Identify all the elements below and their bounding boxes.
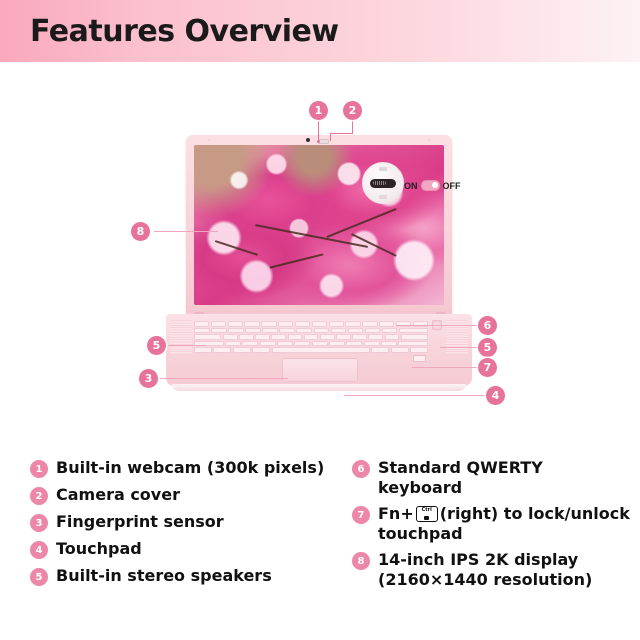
key-space — [272, 347, 370, 353]
leader-line-5-left — [166, 345, 206, 346]
legend-label-1: Built-in webcam (300k pixels) — [56, 458, 324, 478]
base-front-lip — [172, 384, 466, 391]
microphone-icon-left — [208, 139, 210, 141]
keycap-label: Ctrl — [417, 508, 437, 513]
key — [295, 321, 310, 327]
keyboard-row — [194, 321, 428, 327]
callout-marker-5-right[interactable]: 5 — [478, 338, 497, 357]
key — [211, 321, 226, 327]
legend-label-5: Built-in stereo speakers — [56, 566, 272, 586]
toggle-knob — [432, 182, 438, 188]
legend-label-7: Fn+Ctrl(right) to lock/unlock touchpad — [378, 504, 632, 543]
key — [345, 321, 360, 327]
key-fn — [213, 347, 231, 353]
webcam-icon — [306, 138, 310, 142]
ctrl-key-right — [413, 355, 426, 362]
key-ctrl-right — [391, 347, 409, 353]
speaker-grille-left — [170, 320, 192, 354]
callout-marker-8[interactable]: 8 — [131, 222, 150, 241]
legend-column-right: 6 Standard QWERTY keyboard 7 Fn+Ctrl(rig… — [352, 458, 632, 596]
microphone-icon-right — [428, 139, 430, 141]
key — [225, 341, 241, 347]
legend-badge-8: 8 — [352, 552, 370, 570]
callout-marker-6[interactable]: 6 — [478, 316, 497, 335]
key — [223, 334, 238, 340]
callout-marker-5-left[interactable]: 5 — [147, 336, 166, 355]
keycap-sub-glyph — [424, 516, 429, 520]
legend-label-6: Standard QWERTY keyboard — [378, 458, 632, 497]
key — [365, 328, 381, 334]
leader-line-4 — [344, 395, 486, 396]
legend-column-left: 1 Built-in webcam (300k pixels) 2 Camera… — [30, 458, 330, 593]
callout-marker-4[interactable]: 4 — [486, 386, 505, 405]
key — [385, 334, 400, 340]
key-alt — [252, 347, 270, 353]
key — [296, 328, 312, 334]
page-header: Features Overview — [0, 0, 640, 62]
list-item: 6 Standard QWERTY keyboard — [352, 458, 632, 497]
legend-badge-7: 7 — [352, 506, 370, 524]
key-win — [233, 347, 251, 353]
key-enter — [401, 334, 428, 340]
branch-decor — [215, 240, 258, 255]
key — [294, 341, 310, 347]
key — [277, 341, 293, 347]
magnifier-notch-top — [379, 167, 387, 171]
key — [329, 321, 344, 327]
key-ctrl-left — [194, 347, 212, 353]
keyboard-row — [194, 347, 428, 353]
laptop-screen — [194, 145, 444, 305]
key — [331, 328, 347, 334]
key — [239, 334, 254, 340]
list-item: 3 Fingerprint sensor — [30, 512, 330, 532]
callout-marker-1[interactable]: 1 — [309, 101, 328, 120]
legend-badge-6: 6 — [352, 460, 370, 478]
legend-label-8: 14-inch IPS 2K display (2160×1440 resolu… — [378, 550, 632, 589]
key — [320, 334, 335, 340]
key — [362, 321, 377, 327]
key — [379, 321, 394, 327]
branch-decor — [270, 254, 324, 269]
legend-label-7-prefix: Fn+ — [378, 504, 414, 523]
wallpaper-cherry-blossom — [194, 145, 444, 305]
legend-badge-5: 5 — [30, 568, 48, 586]
key — [346, 341, 362, 347]
leader-line-2-v2 — [330, 133, 331, 141]
camera-cover-slider — [318, 139, 329, 144]
key — [336, 334, 351, 340]
list-item: 5 Built-in stereo speakers — [30, 566, 330, 586]
page-title: Features Overview — [30, 14, 339, 49]
leader-line-2-h — [330, 133, 353, 134]
camera-cover-slider-detail — [370, 179, 396, 188]
key — [228, 328, 244, 334]
legend-label-2: Camera cover — [56, 485, 180, 505]
key — [312, 341, 328, 347]
key — [364, 341, 380, 347]
key — [211, 328, 227, 334]
ctrl-keycap-icon: Ctrl — [416, 506, 438, 522]
key — [228, 321, 243, 327]
key — [279, 328, 295, 334]
callout-marker-3[interactable]: 3 — [139, 369, 158, 388]
legend-badge-1: 1 — [30, 460, 48, 478]
list-item: 7 Fn+Ctrl(right) to lock/unlock touchpad — [352, 504, 632, 543]
key — [381, 341, 397, 347]
key — [194, 328, 210, 334]
keyboard-row — [194, 334, 428, 340]
key — [368, 334, 383, 340]
leader-line-2-v — [352, 120, 353, 134]
key — [244, 321, 259, 327]
key-backspace — [399, 328, 428, 334]
toggle-switch-icon — [421, 180, 440, 191]
key — [312, 321, 327, 327]
key-arrow — [410, 347, 428, 353]
list-item: 8 14-inch IPS 2K display (2160×1440 reso… — [352, 550, 632, 589]
leader-line-6 — [396, 325, 486, 326]
leader-line-1 — [318, 120, 319, 142]
key — [278, 321, 293, 327]
key — [261, 321, 276, 327]
callout-marker-2[interactable]: 2 — [343, 101, 362, 120]
leader-line-8 — [154, 231, 218, 232]
toggle-on-label: ON — [404, 181, 418, 191]
camera-cover-magnifier — [362, 162, 404, 204]
leader-dot-1 — [317, 140, 320, 143]
list-item: 2 Camera cover — [30, 485, 330, 505]
key — [242, 341, 258, 347]
callout-marker-7[interactable]: 7 — [478, 358, 497, 377]
key — [314, 328, 330, 334]
legend-label-4: Touchpad — [56, 539, 142, 559]
camera-cover-toggle: ON OFF — [404, 180, 461, 191]
toggle-off-label: OFF — [443, 181, 461, 191]
key — [271, 334, 286, 340]
legend-label-3: Fingerprint sensor — [56, 512, 224, 532]
list-item: 1 Built-in webcam (300k pixels) — [30, 458, 330, 478]
keyboard-row — [194, 341, 428, 347]
key — [304, 334, 319, 340]
key — [329, 341, 345, 347]
key — [382, 328, 398, 334]
branch-decor — [326, 208, 396, 238]
laptop-lid — [186, 135, 452, 317]
legend-badge-3: 3 — [30, 514, 48, 532]
key-alt-right — [371, 347, 389, 353]
keyboard — [192, 319, 430, 355]
leader-line-3 — [158, 378, 288, 379]
key — [194, 321, 209, 327]
legend-badge-2: 2 — [30, 487, 48, 505]
key — [245, 328, 261, 334]
key — [260, 341, 276, 347]
magnifier-notch-bottom — [379, 195, 387, 199]
key — [288, 334, 303, 340]
keyboard-row — [194, 328, 428, 334]
key-shift — [398, 341, 428, 347]
product-diagram: ON OFF 1 2 8 5 3 6 5 7 4 — [0, 62, 640, 452]
key-tab — [194, 334, 221, 340]
legend-badge-4: 4 — [30, 541, 48, 559]
features-legend: 1 Built-in webcam (300k pixels) 2 Camera… — [0, 458, 640, 640]
key — [352, 334, 367, 340]
key — [255, 334, 270, 340]
key — [262, 328, 278, 334]
touchpad — [282, 358, 358, 382]
key — [348, 328, 364, 334]
leader-line-7 — [412, 367, 486, 368]
list-item: 4 Touchpad — [30, 539, 330, 559]
